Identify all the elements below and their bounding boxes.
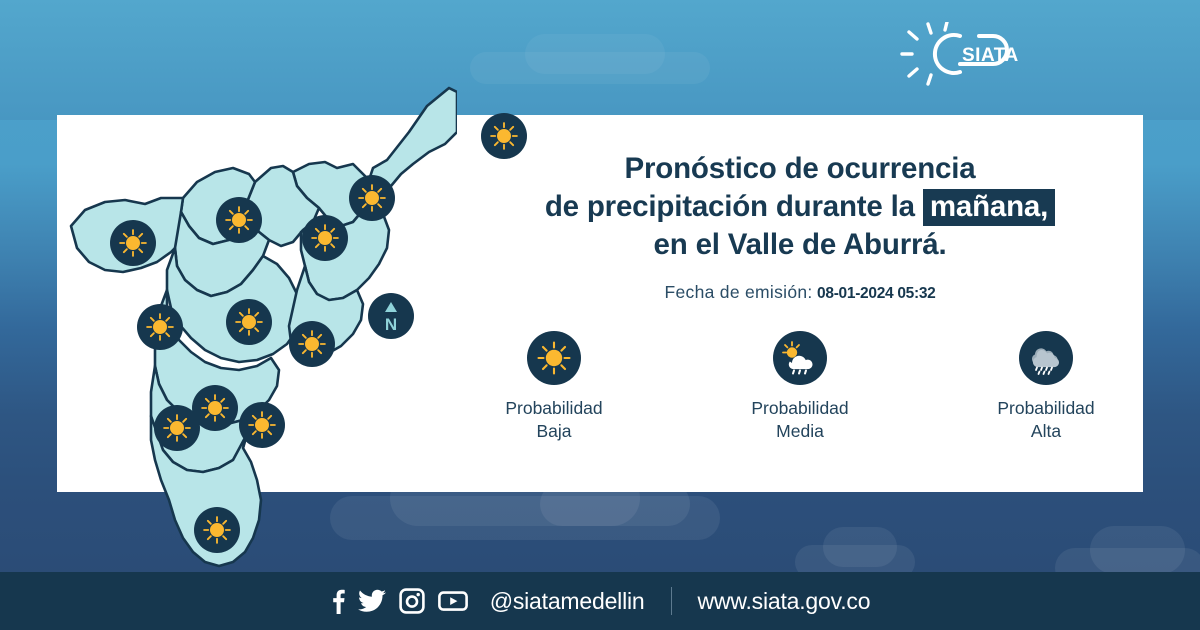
headline-line-1: Pronóstico de ocurrencia: [470, 150, 1130, 188]
map-marker-envigado[interactable]: [137, 304, 183, 350]
social-handle[interactable]: @siatamedellin: [490, 588, 645, 615]
map-marker-la-estrella[interactable]: [154, 405, 200, 451]
sun-icon: [297, 329, 327, 359]
north-arrow-icon: N: [376, 299, 406, 333]
legend-label-low: Probabilidad Baja: [505, 397, 602, 443]
legend-label-low-line2: Baja: [505, 420, 602, 443]
compass-label: N: [385, 315, 397, 333]
social-icons: [330, 588, 468, 614]
valle-de-aburra-map: N: [57, 40, 457, 580]
instagram-icon[interactable]: [399, 588, 425, 614]
issue-date-label: Fecha de emisión:: [665, 282, 813, 302]
legend-label-high-line2: Alta: [997, 420, 1094, 443]
legend-label-low-line1: Probabilidad: [505, 397, 602, 420]
footer-bar: @siatamedellin www.siata.gov.co: [0, 572, 1200, 630]
sun-icon: [536, 340, 572, 376]
legend-icon-low: [527, 331, 581, 385]
footer-divider: [671, 587, 672, 615]
sun-icon: [118, 228, 148, 258]
website-url[interactable]: www.siata.gov.co: [698, 588, 871, 615]
headline: Pronóstico de ocurrencia de precipitació…: [470, 150, 1130, 264]
legend-icon-high: [1019, 331, 1073, 385]
cloud-rain-icon: [1027, 340, 1065, 376]
sun-icon: [357, 183, 387, 213]
brand-logos: SIATA METROPOLITANA Valle de Aburrá SIST…: [900, 18, 1126, 110]
issue-date: Fecha de emisión: 08-01-2024 05:32: [470, 282, 1130, 303]
legend-label-medium: Probabilidad Media: [751, 397, 848, 443]
legend-label-high: Probabilidad Alta: [997, 397, 1094, 443]
siata-logo: SIATA: [900, 22, 1028, 86]
sun-icon: [489, 121, 519, 151]
map-marker-medellin[interactable]: [289, 321, 335, 367]
decorative-cloud-top: [470, 52, 710, 84]
map-marker-sabaneta[interactable]: [239, 402, 285, 448]
infographic-root: SIATA METROPOLITANA Valle de Aburrá SIST…: [0, 0, 1200, 630]
svg-text:SIATA: SIATA: [962, 45, 1019, 66]
probability-legend: Probabilidad Baja: [470, 331, 1130, 443]
sun-icon: [224, 205, 254, 235]
sun-icon: [162, 413, 192, 443]
twitter-icon[interactable]: [358, 589, 386, 613]
headline-line-2: de precipitación durante la mañana,: [470, 188, 1130, 226]
legend-item-high: Probabilidad Alta: [971, 331, 1121, 443]
sun-icon: [202, 515, 232, 545]
issue-date-value: 08-01-2024 05:32: [817, 285, 935, 302]
map-marker-girardota[interactable]: [349, 175, 395, 221]
sun-icon: [200, 393, 230, 423]
facebook-icon[interactable]: [330, 588, 345, 614]
headline-line-3: en el Valle de Aburrá.: [470, 226, 1130, 264]
youtube-icon[interactable]: [438, 590, 468, 612]
legend-item-low: Probabilidad Baja: [479, 331, 629, 443]
legend-icon-medium: [773, 331, 827, 385]
map-marker-caldas[interactable]: [194, 507, 240, 553]
map-marker-san-pedro[interactable]: [216, 197, 262, 243]
map-marker-san-jeronimo[interactable]: [110, 220, 156, 266]
sun-icon: [247, 410, 277, 440]
compass-north-indicator: N: [368, 293, 414, 339]
legend-label-medium-line1: Probabilidad: [751, 397, 848, 420]
legend-label-high-line1: Probabilidad: [997, 397, 1094, 420]
sun-cloud-rain-icon: [781, 340, 819, 376]
sun-icon: [310, 223, 340, 253]
forecast-panel: Pronóstico de ocurrencia de precipitació…: [470, 150, 1130, 450]
headline-line-2-prefix: de precipitación durante la: [545, 190, 923, 223]
headline-highlight: mañana,: [923, 189, 1055, 226]
sun-icon: [145, 312, 175, 342]
legend-item-medium: Probabilidad Media: [725, 331, 875, 443]
map-marker-bello[interactable]: [226, 299, 272, 345]
map-marker-copacabana[interactable]: [302, 215, 348, 261]
sun-icon: [234, 307, 264, 337]
legend-label-medium-line2: Media: [751, 420, 848, 443]
